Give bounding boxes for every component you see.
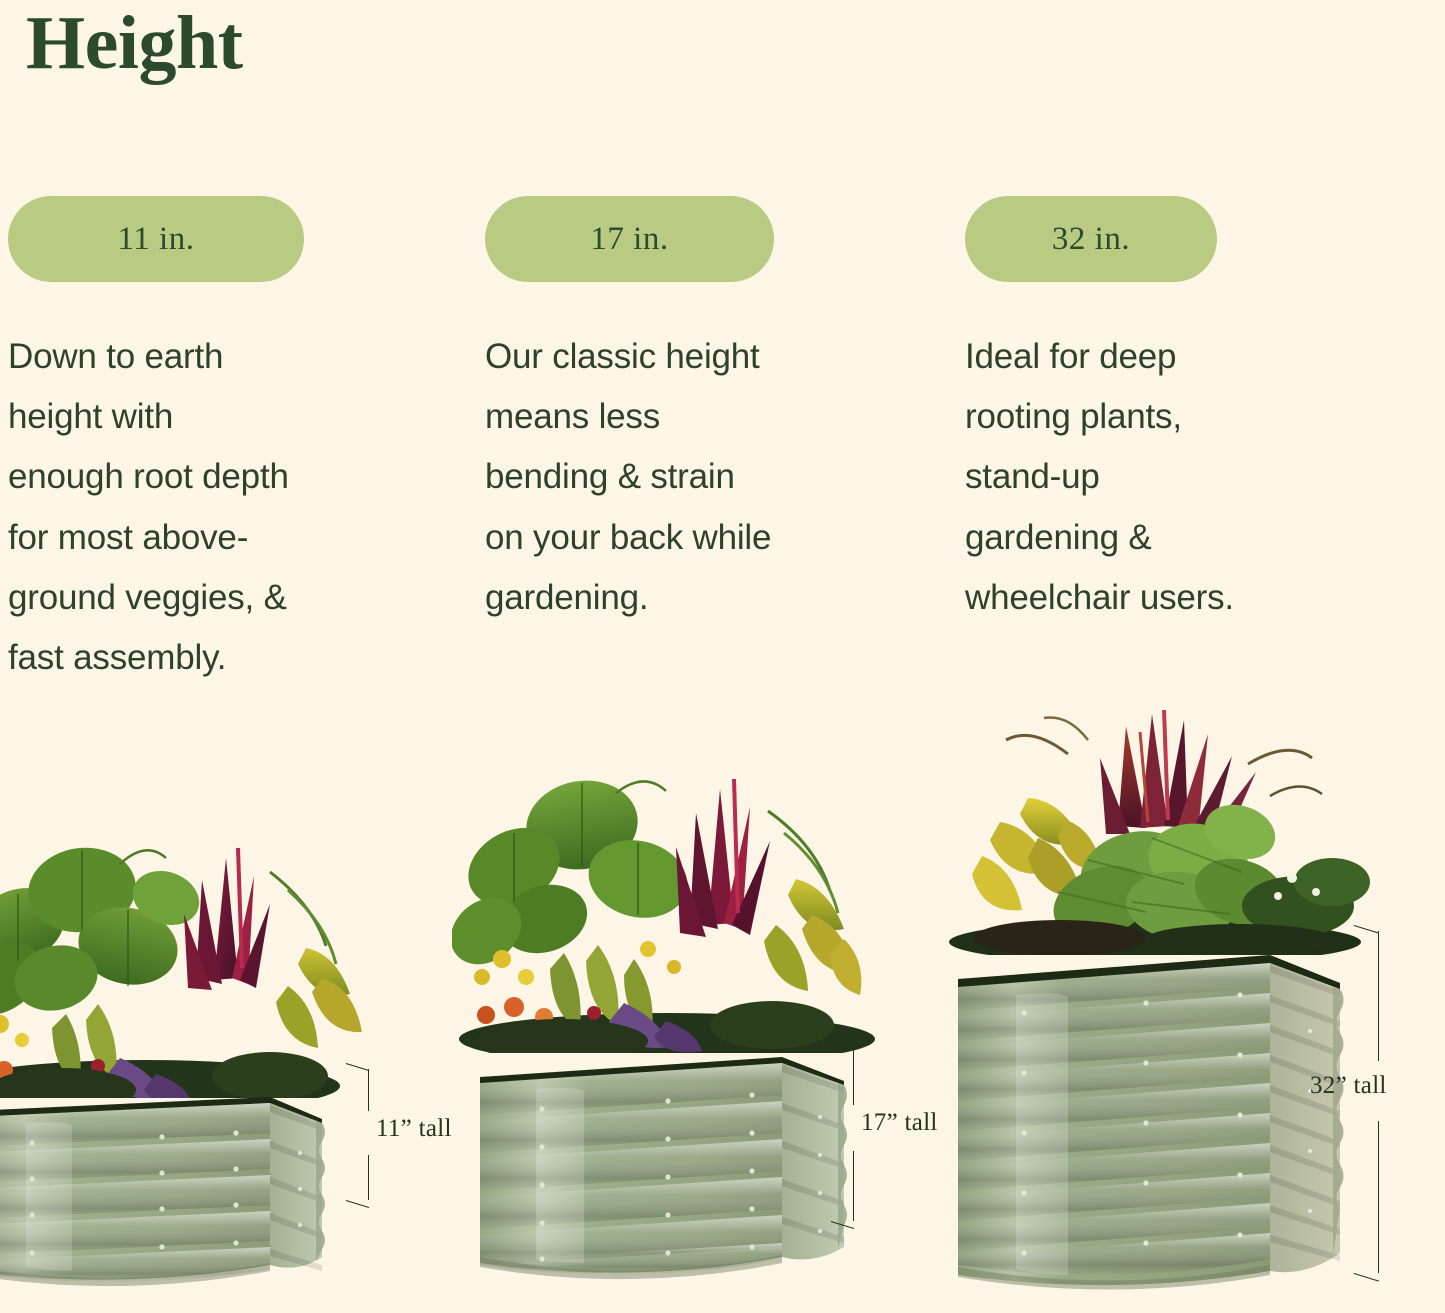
page-title: Height [26,4,243,84]
raised-bed-17in [452,1051,882,1313]
foliage-11in [0,828,390,1098]
height-option-column-11in: 11 in. Down to earth height with enough … [8,196,428,688]
height-badge-11in[interactable]: 11 in. [8,196,304,282]
dimension-line-lower [1378,1121,1379,1273]
height-description-11in: Down to earth height with enough root de… [8,327,428,688]
height-comparison-page: Height 11 in. Down to earth height with … [0,0,1445,1313]
dimension-line-upper [368,1069,369,1111]
plants-illustration-icon [452,763,882,1053]
foliage-32in [940,710,1370,955]
height-badge-17in[interactable]: 17 in. [485,196,774,282]
corrugated-planter-icon [0,1095,390,1313]
planter-image-32in [940,735,1370,1313]
corrugated-planter-icon [452,1051,882,1313]
planter-image-17in [452,768,882,1313]
height-option-column-17in: 17 in. Our classic height means less ben… [485,196,905,628]
dimension-label-32in: 32” tall [1310,1072,1387,1100]
raised-bed-11in [0,1095,390,1313]
plants-illustration-icon [940,710,1370,955]
raised-bed-32in [940,953,1370,1313]
height-description-32in: Ideal for deep rooting plants, stand-up … [965,327,1385,628]
height-description-17in: Our classic height means less bending & … [485,327,905,628]
planter-photo-row [0,735,1445,1313]
height-badge-32in[interactable]: 32 in. [965,196,1217,282]
height-option-column-32in: 32 in. Ideal for deep rooting plants, st… [965,196,1385,628]
foliage-17in [452,763,882,1053]
dimension-line-lower [368,1155,369,1200]
dimension-label-17in: 17” tall [861,1109,938,1137]
corrugated-planter-icon [940,953,1370,1313]
dimension-label-11in: 11” tall [376,1115,452,1143]
planter-image-11in [0,813,390,1313]
plants-illustration-icon [0,828,390,1098]
dimension-line-upper [853,1039,854,1105]
dimension-line-upper [1378,931,1379,1061]
dimension-line-lower [853,1151,854,1221]
